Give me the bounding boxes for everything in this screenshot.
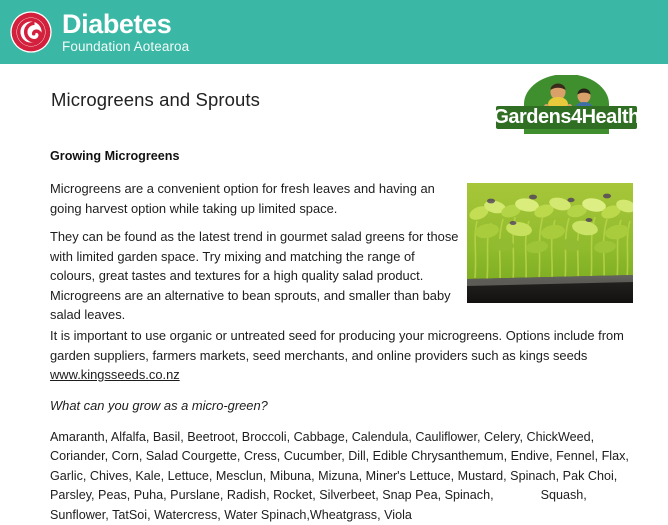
- paragraph-intro: Microgreens are a convenient option for …: [50, 179, 462, 218]
- kingsseeds-link[interactable]: www.kingsseeds.co.nz: [50, 367, 180, 382]
- page-title: Microgreens and Sprouts: [51, 89, 260, 111]
- paragraph-trend: They can be found as the latest trend in…: [50, 227, 462, 325]
- paragraph-seed-sources: It is important to use organic or untrea…: [50, 326, 635, 385]
- question-heading: What can you grow as a micro-green?: [50, 398, 268, 413]
- gardens4health-text: Gardens4Health: [494, 106, 639, 128]
- brand-subtitle: Foundation Aotearoa: [62, 40, 189, 54]
- section-heading: Growing Microgreens: [50, 149, 179, 163]
- paragraph-seed-sources-text: It is important to use organic or untrea…: [50, 328, 624, 363]
- header-banner: Diabetes Foundation Aotearoa: [0, 0, 668, 64]
- koru-spiral-icon: [9, 10, 53, 54]
- brand-wordmark: Diabetes Foundation Aotearoa: [62, 10, 189, 54]
- plant-list: Amaranth, Alfalfa, Basil, Beetroot, Broc…: [50, 428, 640, 525]
- brand-title: Diabetes: [62, 10, 189, 38]
- document-body: Microgreens and Sprouts Gardens4Health: [0, 64, 668, 518]
- microgreens-tray-photo: [467, 183, 633, 303]
- gardens4health-logo: Gardens4Health: [494, 75, 639, 134]
